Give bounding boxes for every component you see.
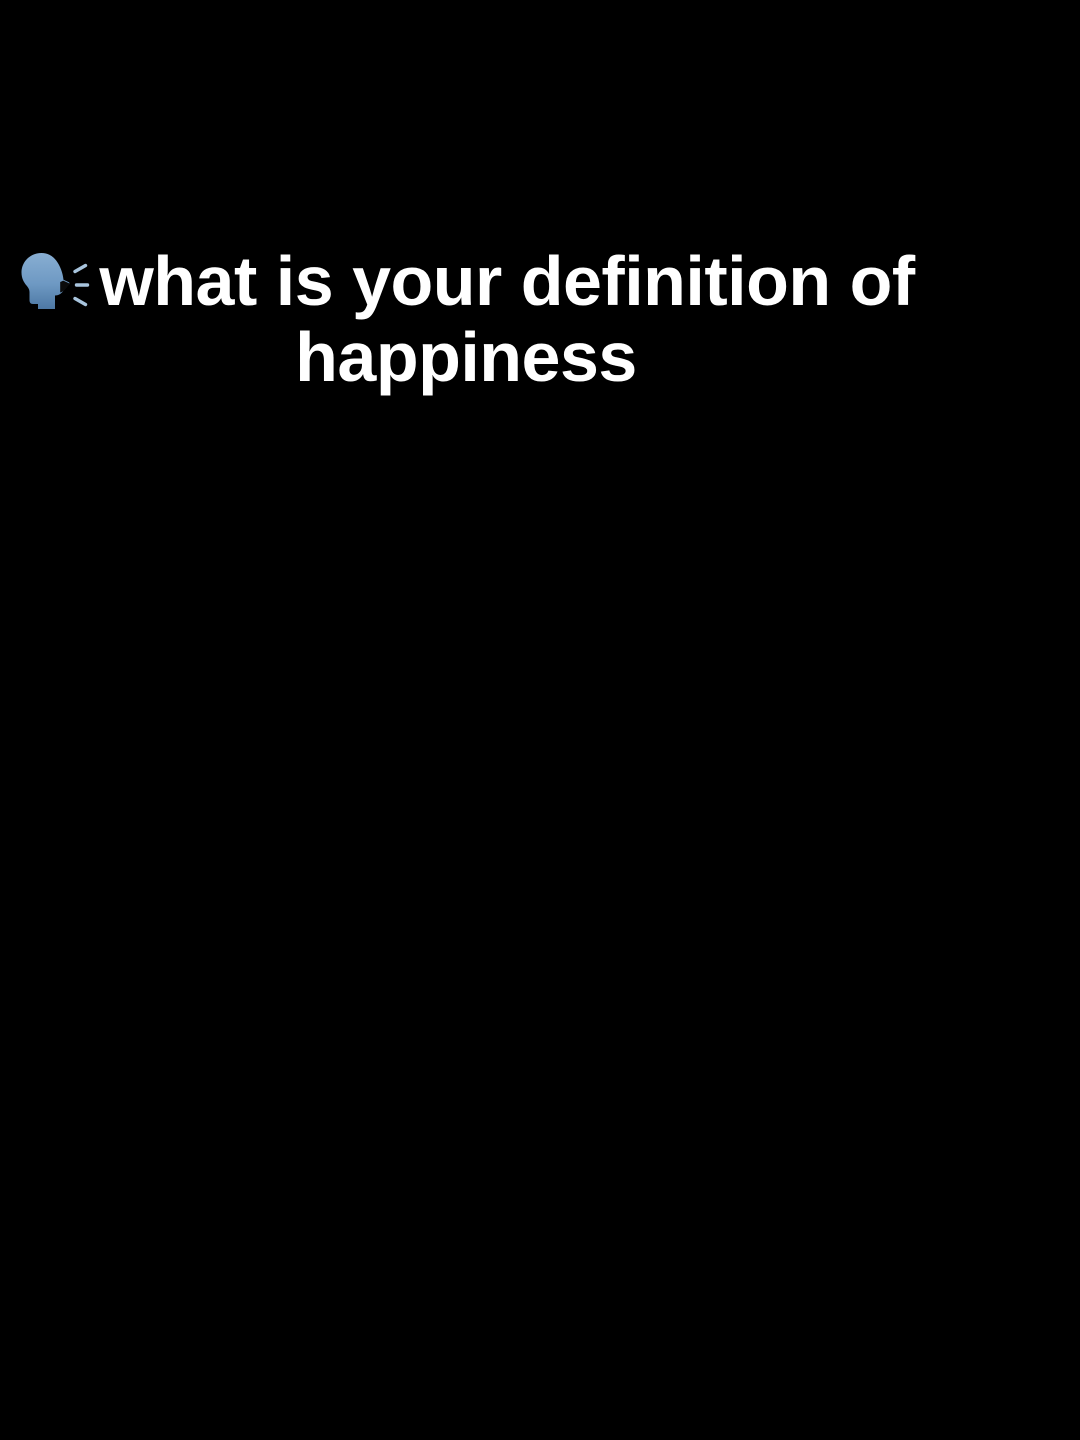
speaking-head-icon bbox=[17, 251, 91, 311]
caption-line-2: happiness bbox=[0, 322, 932, 392]
video-frame: what is your definition of happiness bbox=[0, 0, 1080, 1440]
caption-line-1-text: what is your definition of bbox=[99, 242, 914, 320]
caption-line-1: what is your definition of bbox=[0, 246, 932, 322]
caption-line-2-text: happiness bbox=[295, 318, 637, 396]
emoji-slot bbox=[17, 251, 91, 322]
caption-overlay: what is your definition of happiness bbox=[0, 246, 932, 392]
